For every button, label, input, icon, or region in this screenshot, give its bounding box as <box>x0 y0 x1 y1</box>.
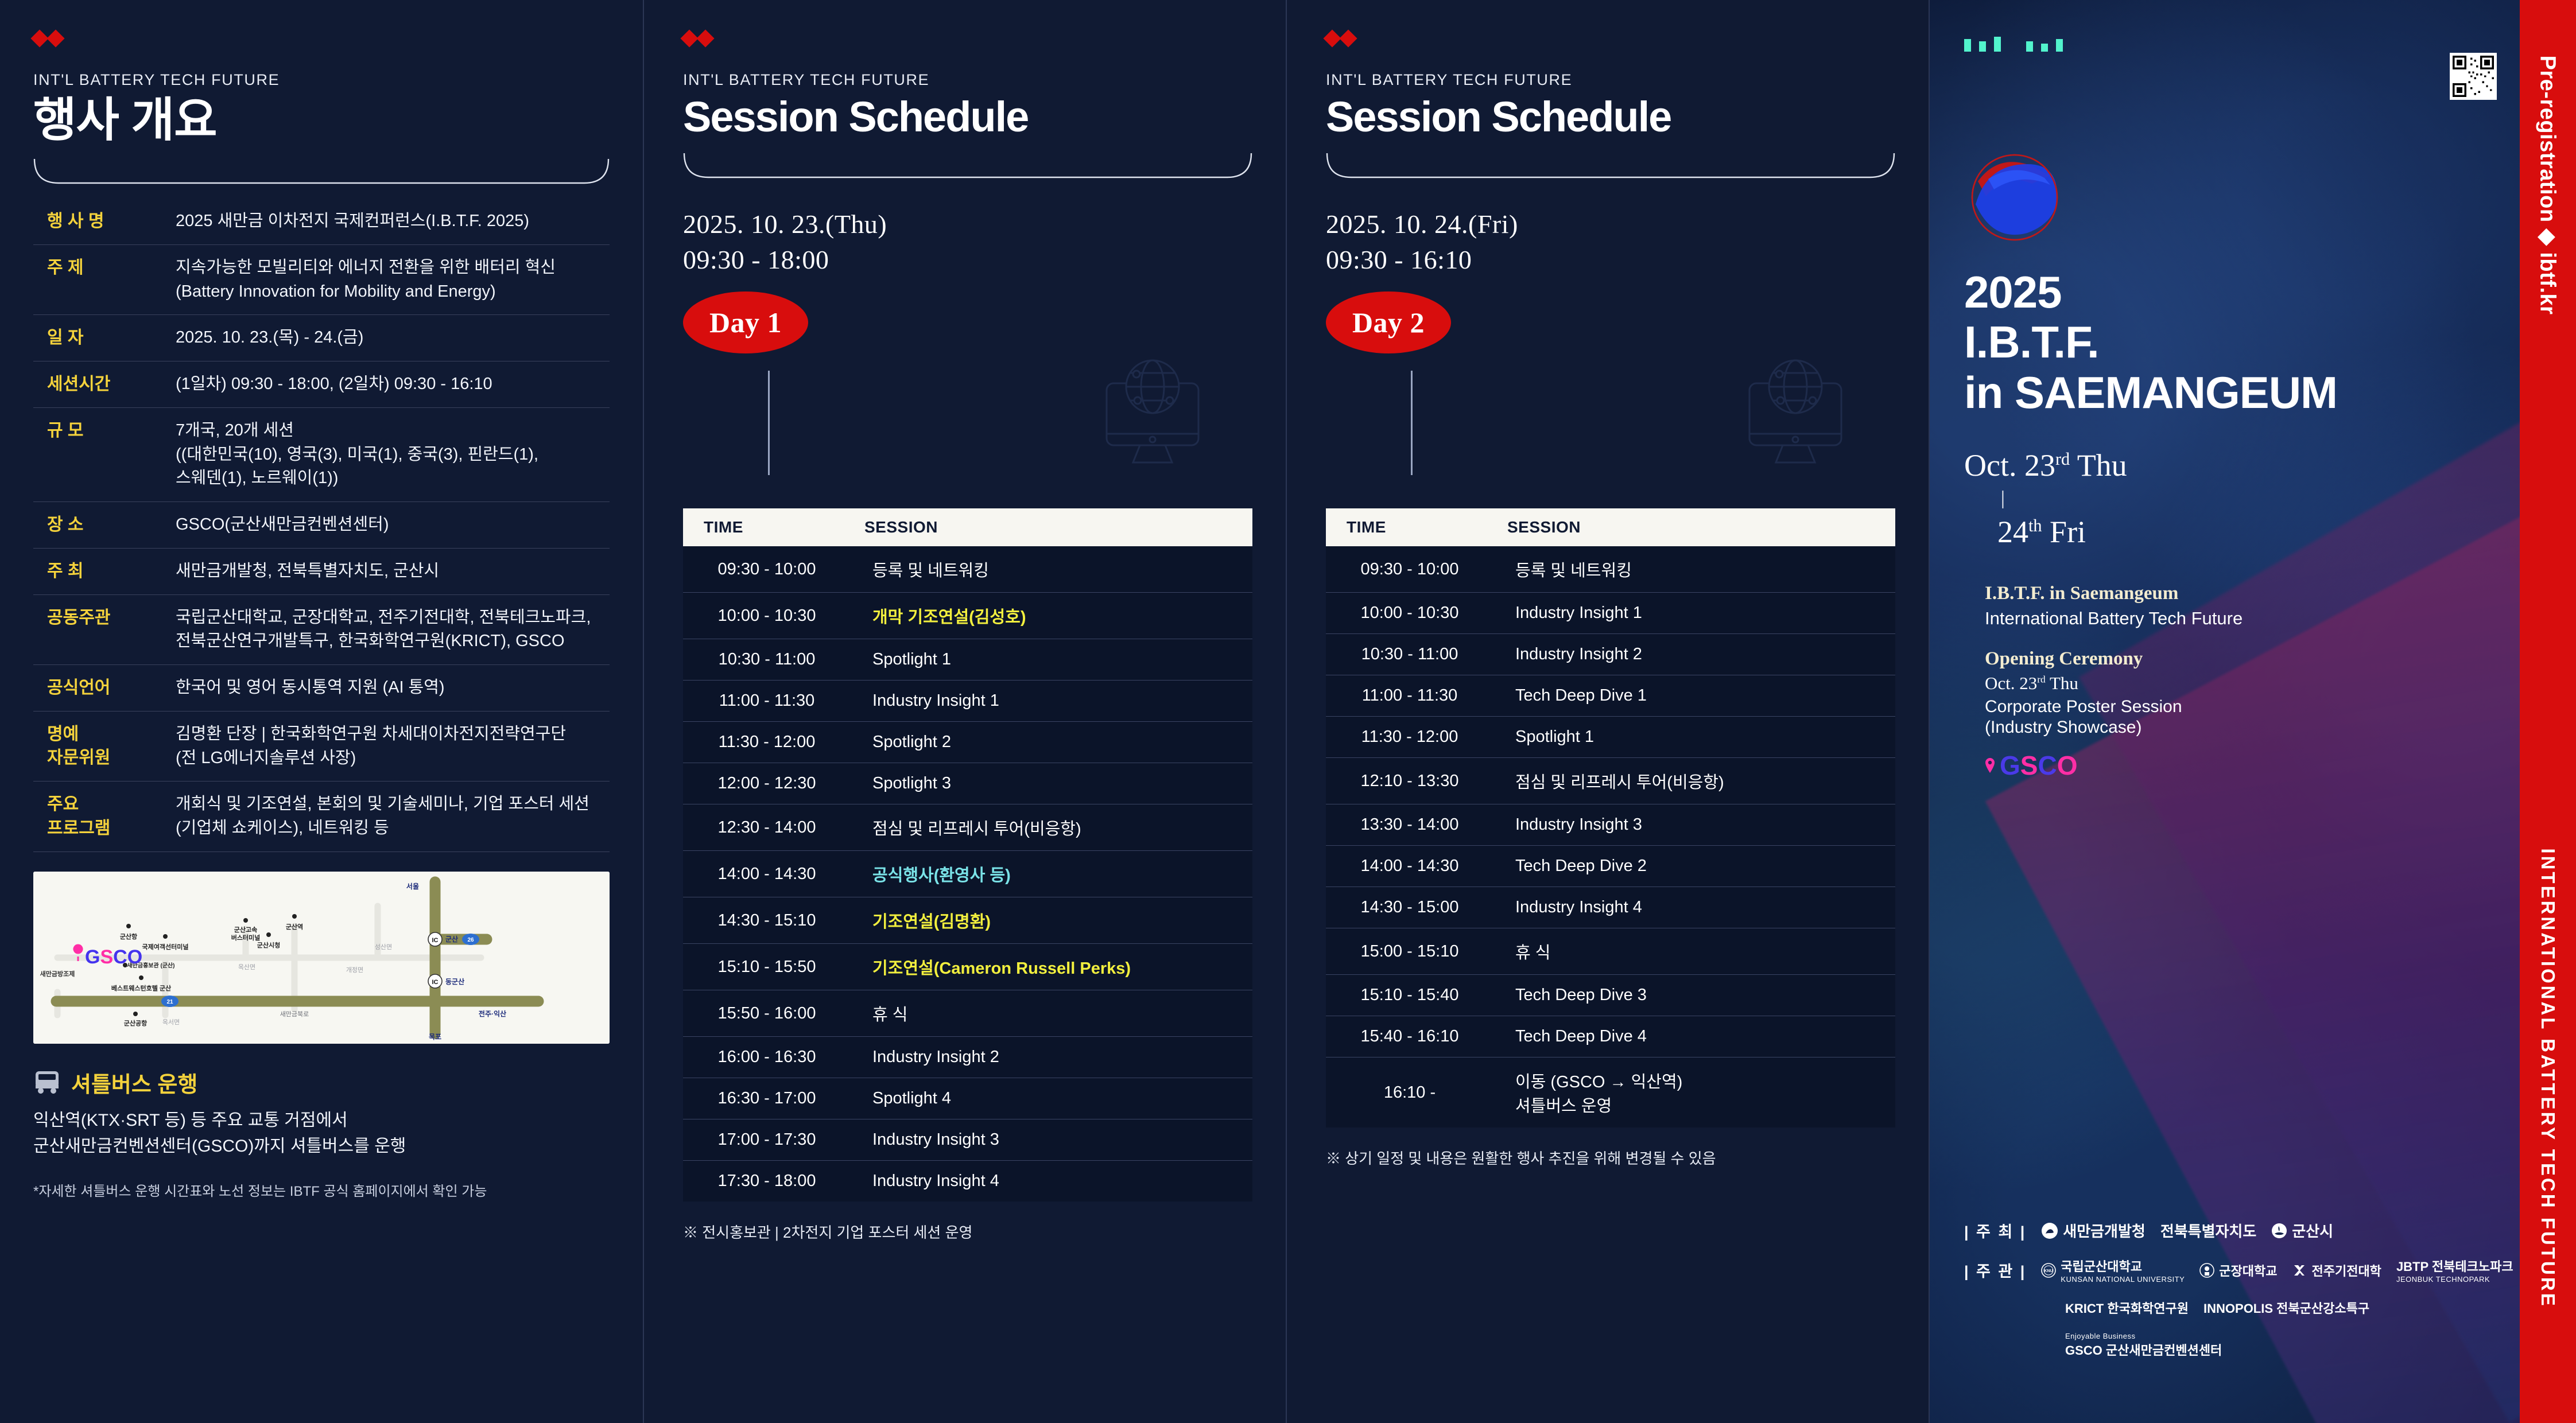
day2-footnote: ※ 상기 일정 및 내용은 원활한 행사 추진을 위해 변경될 수 있음 <box>1326 1147 1895 1168</box>
day2-decoration <box>1326 353 1895 508</box>
row-value: 새만금개발청, 전북특별자치도, 군산시 <box>176 559 610 584</box>
row-key: 명예 자문위원 <box>33 722 176 770</box>
sponsor-logo: 군장대학교 <box>2199 1261 2277 1280</box>
svg-text:26: 26 <box>467 937 474 943</box>
hero-opening-date-sup: rd <box>2037 674 2045 685</box>
table-row: 12:10 - 13:30점심 및 리프레시 투어(비응항) <box>1326 758 1895 804</box>
day1-panel: INT'L BATTERY TECH FUTURE Session Schedu… <box>644 0 1287 1423</box>
cell-session: 이동 (GSCO → 익산역) 셔틀버스 운영 <box>1498 1057 1895 1127</box>
cell-session: Industry Insight 1 <box>1498 593 1895 634</box>
table-header: TIME SESSION <box>683 508 1252 546</box>
title-underline-swoosh <box>33 158 610 188</box>
svg-text:옥산면: 옥산면 <box>238 963 255 971</box>
table-row: 15:50 - 16:00휴 식 <box>683 990 1252 1037</box>
hero-sub-title: I.B.T.F. in Saemangeum <box>1985 583 2520 604</box>
cell-session: Spotlight 1 <box>1498 717 1895 758</box>
hero-title: 2025 I.B.T.F. in SAEMANGEUM <box>1964 267 2520 418</box>
cell-time: 15:40 - 16:10 <box>1326 1016 1498 1057</box>
table-row: 장 소GSCO(군산새만금컨벤션센터) <box>33 501 610 548</box>
sponsor-logo: 군산시 <box>2271 1220 2333 1241</box>
ibtf-globe-logo-icon <box>1964 147 2065 248</box>
table-row: 일 자2025. 10. 23.(목) - 24.(금) <box>33 314 610 361</box>
table-row: 10:30 - 11:00Spotlight 1 <box>683 639 1252 681</box>
row-value: 2025 새만금 이차전지 국제컨퍼런스(I.B.T.F. 2025) <box>176 209 610 234</box>
table-row: 16:00 - 16:30Industry Insight 2 <box>683 1037 1252 1078</box>
table-row: 공동주관국립군산대학교, 군장대학교, 전주기전대학, 전북테크노파크, 전북군… <box>33 594 610 665</box>
cell-time: 16:10 - <box>1326 1057 1498 1127</box>
cell-session: 기조연설(Cameron Russell Perks) <box>855 944 1252 990</box>
table-row: 11:30 - 12:00Spotlight 1 <box>1326 717 1895 758</box>
shuttle-bus-header: 셔틀버스 운행 <box>33 1067 610 1098</box>
row-value: 2025. 10. 23.(목) - 24.(금) <box>176 326 610 350</box>
cell-session: Industry Insight 3 <box>1498 804 1895 846</box>
svg-text:군산시청: 군산시청 <box>257 941 280 949</box>
organizer-row-1: | 주 관 | KNU 국립군산대학교KUNSAN NATIONAL UNIVE… <box>1964 1257 2520 1284</box>
day1-date: 2025. 10. 23.(Thu) <box>683 207 1252 242</box>
diamond-decoration-icon <box>33 32 610 45</box>
row-value: 국립군산대학교, 군장대학교, 전주기전대학, 전북테크노파크, 전북군산연구개… <box>176 606 610 654</box>
svg-text:GSCO: GSCO <box>85 946 142 968</box>
day1-title: Session Schedule <box>683 95 1252 139</box>
table-row: 11:00 - 11:30Tech Deep Dive 1 <box>1326 675 1895 717</box>
cell-session: 공식행사(환영사 등) <box>855 851 1252 897</box>
svg-text:성산면: 성산면 <box>375 943 392 951</box>
row-key: 장 소 <box>33 513 176 536</box>
overview-panel: INT'L BATTERY TECH FUTURE 행사 개요 행 사 명202… <box>0 0 644 1423</box>
qr-code[interactable] <box>2450 53 2497 100</box>
day1-eyebrow: INT'L BATTERY TECH FUTURE <box>683 71 1252 89</box>
gunjang-college-seal-icon <box>2199 1263 2214 1278</box>
cell-time: 14:30 - 15:00 <box>1326 887 1498 928</box>
table-row: 17:00 - 17:30Industry Insight 3 <box>683 1119 1252 1161</box>
svg-text:목포: 목포 <box>429 1033 441 1041</box>
cell-time: 12:30 - 14:00 <box>683 804 855 851</box>
cell-time: 12:00 - 12:30 <box>683 763 855 804</box>
hero-sub-expand: International Battery Tech Future <box>1985 608 2520 629</box>
day1-schedule-table: TIME SESSION 09:30 - 10:00등록 및 네트워킹10:00… <box>683 508 1252 1202</box>
table-row: 명예 자문위원김명환 단장 | 한국화학연구원 차세대이차전지전략연구단 (전 … <box>33 711 610 782</box>
table-row: 주요 프로그램개회식 및 기조연설, 본회의 및 기술세미나, 기업 포스터 세… <box>33 781 610 852</box>
day1-time-range: 09:30 - 18:00 <box>683 243 1252 278</box>
table-row: 14:30 - 15:10기조연설(김명환) <box>683 897 1252 944</box>
table-row: 공식언어한국어 및 영어 동시통역 지원 (AI 통역) <box>33 664 610 711</box>
day2-eyebrow: INT'L BATTERY TECH FUTURE <box>1326 71 1895 89</box>
svg-text:옥서면: 옥서면 <box>162 1018 180 1026</box>
col-session: SESSION <box>1498 508 1895 546</box>
cell-time: 13:30 - 14:00 <box>1326 804 1498 846</box>
cell-session: 휴 식 <box>1498 928 1895 975</box>
sponsor-logo: 전주기전대학 <box>2292 1261 2381 1280</box>
svg-text:국제여객선터미널: 국제여객선터미널 <box>142 943 189 951</box>
cell-time: 11:00 - 11:30 <box>1326 675 1498 717</box>
cell-session: 점심 및 리프레시 투어(비응항) <box>1498 758 1895 804</box>
row-value: (1일차) 09:30 - 18:00, (2일차) 09:30 - 16:10 <box>176 372 610 396</box>
hero-date2-main: 24 <box>1997 515 2028 549</box>
cell-session: Industry Insight 4 <box>1498 887 1895 928</box>
overview-title: 행사 개요 <box>33 96 610 145</box>
sponsor-logo: INNOPOLIS 전북군산강소특구 <box>2203 1298 2369 1317</box>
svg-text:새만금방조제: 새만금방조제 <box>40 970 75 978</box>
cell-session: 점심 및 리프레시 투어(비응항) <box>855 804 1252 851</box>
cell-time: 14:00 - 14:30 <box>1326 846 1498 887</box>
table-row: 규 모7개국, 20개 세션 ((대한민국(10), 영국(3), 미국(1),… <box>33 407 610 501</box>
bus-icon <box>33 1070 61 1094</box>
pre-registration-rail[interactable]: Pre-registration ◆ ibtf.kr INTERNATIONAL… <box>2520 0 2576 1423</box>
table-row: 16:10 -이동 (GSCO → 익산역) 셔틀버스 운영 <box>1326 1057 1895 1127</box>
cell-session: Tech Deep Dive 3 <box>1498 975 1895 1016</box>
hero-opening-title: Opening Ceremony <box>1985 648 2520 670</box>
table-row: 09:30 - 10:00등록 및 네트워킹 <box>683 546 1252 593</box>
gunsan-city-emblem-icon <box>2271 1223 2287 1239</box>
day1-badge: Day 1 <box>683 291 808 353</box>
row-key: 세션시간 <box>33 372 176 396</box>
pre-registration-label[interactable]: Pre-registration ◆ ibtf.kr <box>2535 56 2561 315</box>
hero-date1-main: Oct. 23 <box>1964 448 2055 483</box>
organizer-row-2: KRICT 한국화학연구원 INNOPOLIS 전북군산강소특구 Enjoyab… <box>1964 1298 2520 1359</box>
sponsor-logo: KNU 국립군산대학교KUNSAN NATIONAL UNIVERSITY <box>2041 1257 2185 1284</box>
cell-session: Spotlight 1 <box>855 639 1252 681</box>
sponsor-logo: KRICT 한국화학연구원 <box>2065 1298 2189 1317</box>
sponsor-logo: 새만금개발청 <box>2041 1220 2146 1241</box>
cell-time: 10:00 - 10:30 <box>683 593 855 639</box>
host-row: | 주 최 | 새만금개발청 전북특별자치도 군산시 <box>1964 1219 2520 1242</box>
table-row: 13:30 - 14:00Industry Insight 3 <box>1326 804 1895 846</box>
shuttle-title: 셔틀버스 운행 <box>71 1067 197 1098</box>
rail-brand-label: INTERNATIONAL BATTERY TECH FUTURE <box>2537 848 2559 1308</box>
diamond-decoration-icon <box>683 32 1252 45</box>
row-key: 주 제 <box>33 256 176 279</box>
svg-text:군산공항: 군산공항 <box>124 1019 147 1027</box>
row-key: 주 최 <box>33 559 176 583</box>
day1-footnote: ※ 전시홍보관 | 2차전지 기업 포스터 세션 운영 <box>683 1221 1252 1242</box>
cell-time: 16:00 - 16:30 <box>683 1037 855 1078</box>
svg-text:서울: 서울 <box>406 882 419 891</box>
table-row: 행 사 명2025 새만금 이차전지 국제컨퍼런스(I.B.T.F. 2025) <box>33 204 610 244</box>
table-row: 14:00 - 14:30공식행사(환영사 등) <box>683 851 1252 897</box>
cell-session: Tech Deep Dive 2 <box>1498 846 1895 887</box>
cell-time: 16:30 - 17:00 <box>683 1078 855 1119</box>
row-key: 행 사 명 <box>33 209 176 233</box>
table-row: 주 최새만금개발청, 전북특별자치도, 군산시 <box>33 548 610 594</box>
jeonju-kijeon-logo-icon <box>2292 1263 2307 1278</box>
svg-text:군산: 군산 <box>445 935 458 943</box>
hero-date2: 24th Fri <box>1997 516 2520 547</box>
svg-text:IC: IC <box>432 937 439 944</box>
cell-session: Industry Insight 2 <box>855 1037 1252 1078</box>
cell-time: 15:50 - 16:00 <box>683 990 855 1037</box>
cell-time: 15:10 - 15:50 <box>683 944 855 990</box>
table-row: 15:10 - 15:40Tech Deep Dive 3 <box>1326 975 1895 1016</box>
day2-badge: Day 2 <box>1326 291 1451 353</box>
cell-time: 09:30 - 10:00 <box>1326 546 1498 593</box>
hero-opening-line2: (Industry Showcase) <box>1985 718 2520 737</box>
svg-text:개정면: 개정면 <box>346 966 363 974</box>
globe-monitor-icon <box>1095 356 1210 468</box>
row-value: GSCO(군산새만금컨벤션센터) <box>176 513 610 537</box>
cell-time: 11:00 - 11:30 <box>683 681 855 722</box>
shuttle-note: *자세한 셔틀버스 운행 시간표와 노선 정보는 IBTF 공식 홈페이지에서 … <box>33 1180 610 1200</box>
organizer-tag: | 주 관 | <box>1964 1259 2026 1281</box>
host-tag: | 주 최 | <box>1964 1219 2026 1242</box>
cell-session: Industry Insight 1 <box>855 681 1252 722</box>
table-row: 10:30 - 11:00Industry Insight 2 <box>1326 634 1895 675</box>
table-row: 09:30 - 10:00등록 및 네트워킹 <box>1326 546 1895 593</box>
cell-time: 11:30 - 12:00 <box>1326 717 1498 758</box>
cell-time: 10:00 - 10:30 <box>1326 593 1498 634</box>
hero-abbr: I.B.T.F. <box>1964 317 2520 367</box>
cell-session: 개막 기조연설(김성호) <box>855 593 1252 639</box>
svg-text:전주·익산: 전주·익산 <box>479 1009 506 1018</box>
hero-date1-sup: rd <box>2055 449 2070 469</box>
cell-session: Spotlight 4 <box>855 1078 1252 1119</box>
sponsors-section: | 주 최 | 새만금개발청 전북특별자치도 군산시 | 주 관 | KNU <box>1964 1219 2520 1374</box>
day2-time-range: 09:30 - 16:10 <box>1326 243 1895 278</box>
row-key: 규 모 <box>33 419 176 442</box>
government-emblem-icon <box>2041 1222 2058 1239</box>
hero-opening-date: Oct. 23rd Thu <box>1985 673 2520 694</box>
sponsor-logo: JBTP 전북테크노파크JEONBUK TECHNOPARK <box>2396 1257 2513 1284</box>
row-value: 개회식 및 기조연설, 본회의 및 기술세미나, 기업 포스터 세션 (기업체 … <box>176 792 610 841</box>
cell-time: 15:10 - 15:40 <box>1326 975 1498 1016</box>
cell-session: Tech Deep Dive 1 <box>1498 675 1895 717</box>
hero-year: 2025 <box>1964 267 2520 317</box>
svg-text:군산고속: 군산고속 <box>234 926 257 934</box>
hero-date-separator: | <box>2001 489 2520 508</box>
cell-session: Spotlight 3 <box>855 763 1252 804</box>
cell-time: 10:30 - 11:00 <box>1326 634 1498 675</box>
table-row: 11:30 - 12:00Spotlight 2 <box>683 722 1252 763</box>
svg-text:버스터미널: 버스터미널 <box>231 934 261 942</box>
cell-time: 15:00 - 15:10 <box>1326 928 1498 975</box>
hero-place: in SAEMANGEUM <box>1964 368 2520 418</box>
cell-time: 14:00 - 14:30 <box>683 851 855 897</box>
col-time: TIME <box>1326 508 1498 546</box>
sponsor-logo: Enjoyable BusinessGSCO 군산새만금컨벤션센터 <box>2065 1332 2222 1359</box>
cell-session: 기조연설(김명환) <box>855 897 1252 944</box>
table-row: 12:00 - 12:30Spotlight 3 <box>683 763 1252 804</box>
hero-opening-line1: Corporate Poster Session <box>1985 697 2520 717</box>
table-row: 15:40 - 16:10Tech Deep Dive 4 <box>1326 1016 1895 1057</box>
cell-session: 등록 및 네트워킹 <box>1498 546 1895 593</box>
table-row: 세션시간(1일차) 09:30 - 18:00, (2일차) 09:30 - 1… <box>33 361 610 407</box>
table-row: 14:00 - 14:30Tech Deep Dive 2 <box>1326 846 1895 887</box>
table-row: 10:00 - 10:30개막 기조연설(김성호) <box>683 593 1252 639</box>
row-key: 주요 프로그램 <box>33 792 176 840</box>
cell-session: Spotlight 2 <box>855 722 1252 763</box>
event-overview-table: 행 사 명2025 새만금 이차전지 국제컨퍼런스(I.B.T.F. 2025)… <box>33 204 610 852</box>
table-header: TIME SESSION <box>1326 508 1895 546</box>
row-value: 한국어 및 영어 동시통역 지원 (AI 통역) <box>176 676 610 700</box>
shuttle-body: 익산역(KTX·SRT 등) 등 주요 교통 거점에서 군산새만금컨벤션센터(G… <box>33 1107 610 1159</box>
row-key: 일 자 <box>33 326 176 349</box>
hero-date2-sup: th <box>2028 516 2042 535</box>
svg-text:21: 21 <box>166 999 173 1005</box>
cell-time: 17:30 - 18:00 <box>683 1161 855 1202</box>
hero-date1: Oct. 23rd Thu <box>1964 450 2520 481</box>
overview-eyebrow: INT'L BATTERY TECH FUTURE <box>33 71 610 89</box>
title-underline-swoosh <box>1326 152 1895 182</box>
row-value: 김명환 단장 | 한국화학연구원 차세대이차전지전략연구단 (전 LG에너지솔루… <box>176 722 610 771</box>
table-row: 10:00 - 10:30Industry Insight 1 <box>1326 593 1895 634</box>
hero-opening-date-day: Thu <box>2050 673 2078 693</box>
col-session: SESSION <box>855 508 1252 546</box>
hero-date1-day: Thu <box>2077 448 2127 483</box>
kunsan-university-seal-icon: KNU <box>2041 1263 2056 1278</box>
hero-subinfo: I.B.T.F. in Saemangeum International Bat… <box>1985 583 2520 781</box>
location-pin-icon <box>1985 758 1995 773</box>
cell-time: 14:30 - 15:10 <box>683 897 855 944</box>
cell-session: 휴 식 <box>855 990 1252 1037</box>
svg-text:군산항: 군산항 <box>120 932 137 940</box>
cell-session: 등록 및 네트워킹 <box>855 546 1252 593</box>
table-row: 11:00 - 11:30Industry Insight 1 <box>683 681 1252 722</box>
table-row: 17:30 - 18:00Industry Insight 4 <box>683 1161 1252 1202</box>
globe-monitor-icon <box>1738 356 1853 468</box>
teal-bars-decoration-icon <box>1964 32 2520 52</box>
svg-text:새만금북로: 새만금북로 <box>280 1010 309 1018</box>
cell-time: 09:30 - 10:00 <box>683 546 855 593</box>
svg-text:베스트웨스턴호텔 군산: 베스트웨스턴호텔 군산 <box>111 984 171 992</box>
table-body: 09:30 - 10:00등록 및 네트워킹10:00 - 10:30Indus… <box>1326 546 1895 1127</box>
cell-session: Industry Insight 3 <box>855 1119 1252 1161</box>
venue-location-map[interactable]: 군산항 국제여객선터미널 군산고속버스터미널 군산역 군산시청 새만금홍보관 (… <box>33 872 610 1044</box>
day2-panel: INT'L BATTERY TECH FUTURE Session Schedu… <box>1287 0 1930 1423</box>
cell-time: 10:30 - 11:00 <box>683 639 855 681</box>
day2-date: 2025. 10. 24.(Fri) <box>1326 207 1895 242</box>
hero-panel: 2025 I.B.T.F. in SAEMANGEUM Oct. 23rd Th… <box>1930 0 2520 1423</box>
svg-text:IC: IC <box>432 979 439 986</box>
hero-dates: Oct. 23rd Thu | 24th Fri <box>1964 450 2520 547</box>
day2-schedule-table: TIME SESSION 09:30 - 10:00등록 및 네트워킹10:00… <box>1326 508 1895 1127</box>
col-time: TIME <box>683 508 855 546</box>
poster-root: INT'L BATTERY TECH FUTURE 행사 개요 행 사 명202… <box>0 0 2576 1423</box>
title-underline-swoosh <box>683 152 1252 182</box>
table-row: 14:30 - 15:00Industry Insight 4 <box>1326 887 1895 928</box>
day2-title: Session Schedule <box>1326 95 1895 139</box>
table-body: 09:30 - 10:00등록 및 네트워킹10:00 - 10:30개막 기조… <box>683 546 1252 1202</box>
sponsor-logo: 전북특별자치도 <box>2160 1220 2256 1241</box>
row-key: 공동주관 <box>33 606 176 629</box>
svg-text:동군산: 동군산 <box>445 977 464 986</box>
cell-time: 11:30 - 12:00 <box>683 722 855 763</box>
cell-session: Tech Deep Dive 4 <box>1498 1016 1895 1057</box>
table-row: 12:30 - 14:00점심 및 리프레시 투어(비응항) <box>683 804 1252 851</box>
hero-venue: GSCO <box>1985 750 2520 781</box>
cell-session: Industry Insight 4 <box>855 1161 1252 1202</box>
hero-date2-day: Fri <box>2050 515 2086 549</box>
row-value: 지속가능한 모빌리티와 에너지 전환을 위한 배터리 혁신 (Battery I… <box>176 256 610 304</box>
cell-session: Industry Insight 2 <box>1498 634 1895 675</box>
cell-time: 17:00 - 17:30 <box>683 1119 855 1161</box>
svg-text:KNU: KNU <box>2044 1269 2053 1273</box>
table-row: 주 제지속가능한 모빌리티와 에너지 전환을 위한 배터리 혁신 (Batter… <box>33 244 610 315</box>
row-key: 공식언어 <box>33 676 176 699</box>
row-value: 7개국, 20개 세션 ((대한민국(10), 영국(3), 미국(1), 중국… <box>176 419 610 491</box>
diamond-decoration-icon <box>1326 32 1895 45</box>
svg-text:군산역: 군산역 <box>286 923 303 931</box>
cell-time: 12:10 - 13:30 <box>1326 758 1498 804</box>
table-row: 15:10 - 15:50기조연설(Cameron Russell Perks) <box>683 944 1252 990</box>
day1-decoration <box>683 353 1252 508</box>
table-row: 16:30 - 17:00Spotlight 4 <box>683 1078 1252 1119</box>
hero-opening-date-main: Oct. 23 <box>1985 673 2037 693</box>
table-row: 15:00 - 15:10휴 식 <box>1326 928 1895 975</box>
